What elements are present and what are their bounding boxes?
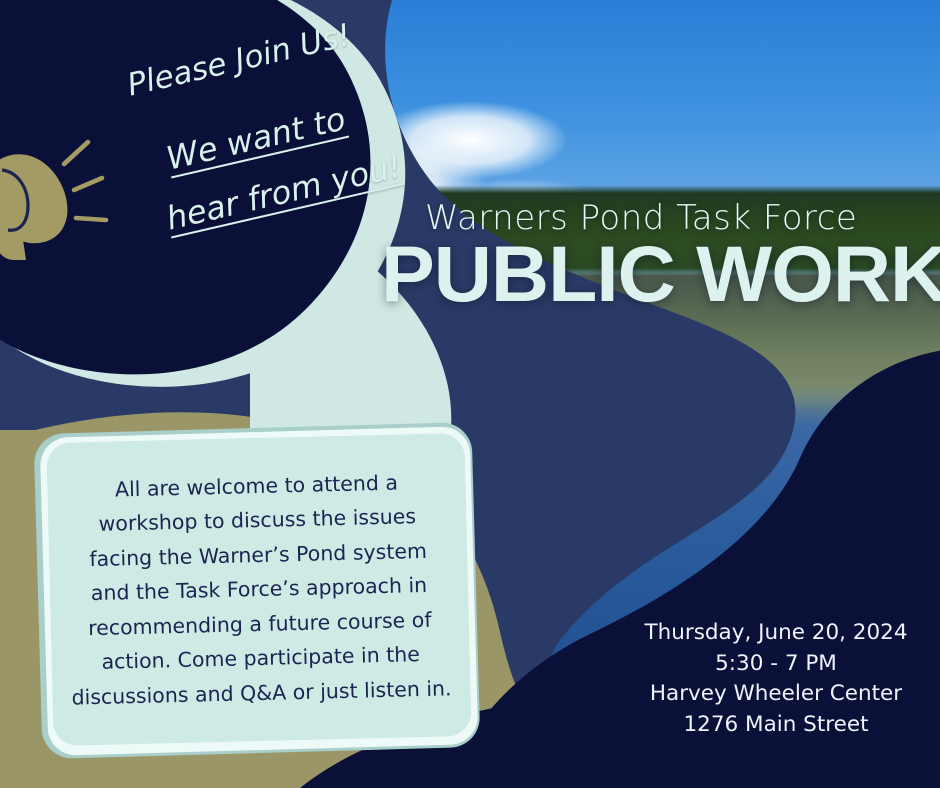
event-address: 1276 Main Street xyxy=(626,710,926,741)
page-title: PUBLIC WORKSHOP xyxy=(381,236,940,312)
event-venue: Harvey Wheeler Center xyxy=(626,679,926,710)
event-date: Thursday, June 20, 2024 xyxy=(626,618,926,649)
event-details: Thursday, June 20, 2024 5:30 - 7 PM Harv… xyxy=(626,618,926,740)
description-card: All are welcome to attend a workshop to … xyxy=(46,433,471,746)
description-text: All are welcome to attend a workshop to … xyxy=(65,464,453,714)
event-time: 5:30 - 7 PM xyxy=(626,649,926,680)
poster-canvas: Please Join Us! We want to hear from you… xyxy=(0,0,940,788)
megaphone-icon xyxy=(0,120,128,270)
